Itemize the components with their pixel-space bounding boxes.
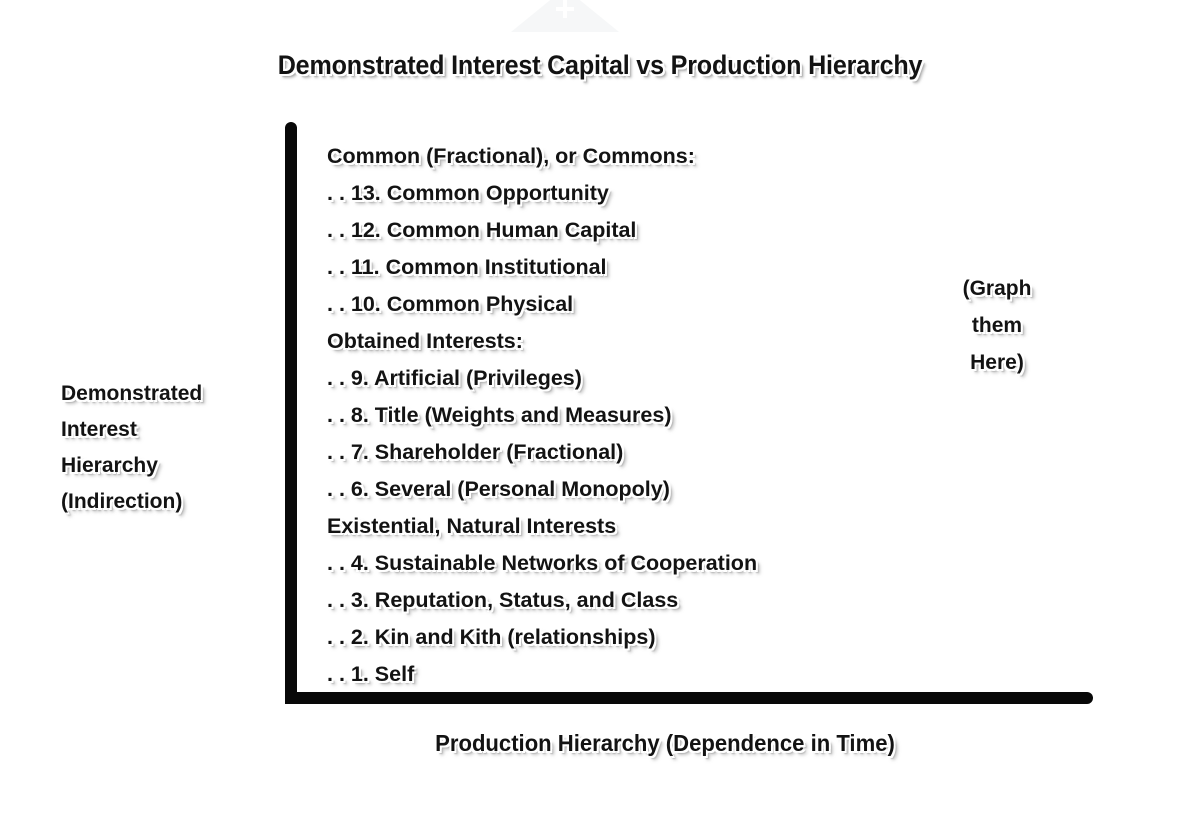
list-item: . . 4. Sustainable Networks of Cooperati… — [327, 548, 967, 585]
list-item: . . 10. Common Physical — [327, 289, 967, 326]
list-item: . . 7. Shareholder (Fractional) — [327, 437, 967, 474]
list-item: Existential, Natural Interests — [327, 511, 967, 548]
list-item: Obtained Interests: — [327, 326, 967, 363]
hierarchy-list: Common (Fractional), or Commons: . . 13.… — [327, 141, 967, 696]
chart-canvas: Demonstrated Interest Capital vs Product… — [0, 0, 1200, 826]
list-item: . . 6. Several (Personal Monopoly) — [327, 474, 967, 511]
y-axis-line — [285, 122, 297, 704]
list-item: . . 2. Kin and Kith (relationships) — [327, 622, 967, 659]
y-axis-title-line: (Indirection) — [61, 484, 276, 520]
y-axis-title-line: Demonstrated — [61, 376, 276, 412]
triangle-watermark-icon — [505, 0, 625, 34]
list-item: . . 8. Title (Weights and Measures) — [327, 400, 967, 437]
list-item: . . 11. Common Institutional — [327, 252, 967, 289]
y-axis-title: Demonstrated Interest Hierarchy (Indirec… — [61, 376, 276, 520]
x-axis-title: Production Hierarchy (Dependence in Time… — [300, 730, 1030, 757]
list-item: . . 1. Self — [327, 659, 967, 696]
chart-title: Demonstrated Interest Capital vs Product… — [42, 50, 1158, 81]
list-item: . . 3. Reputation, Status, and Class — [327, 585, 967, 622]
y-axis-title-line: Interest — [61, 412, 276, 448]
list-item: Common (Fractional), or Commons: — [327, 141, 967, 178]
y-axis-title-line: Hierarchy — [61, 448, 276, 484]
list-item: . . 9. Artificial (Privileges) — [327, 363, 967, 400]
list-item: . . 12. Common Human Capital — [327, 215, 967, 252]
list-item: . . 13. Common Opportunity — [327, 178, 967, 215]
